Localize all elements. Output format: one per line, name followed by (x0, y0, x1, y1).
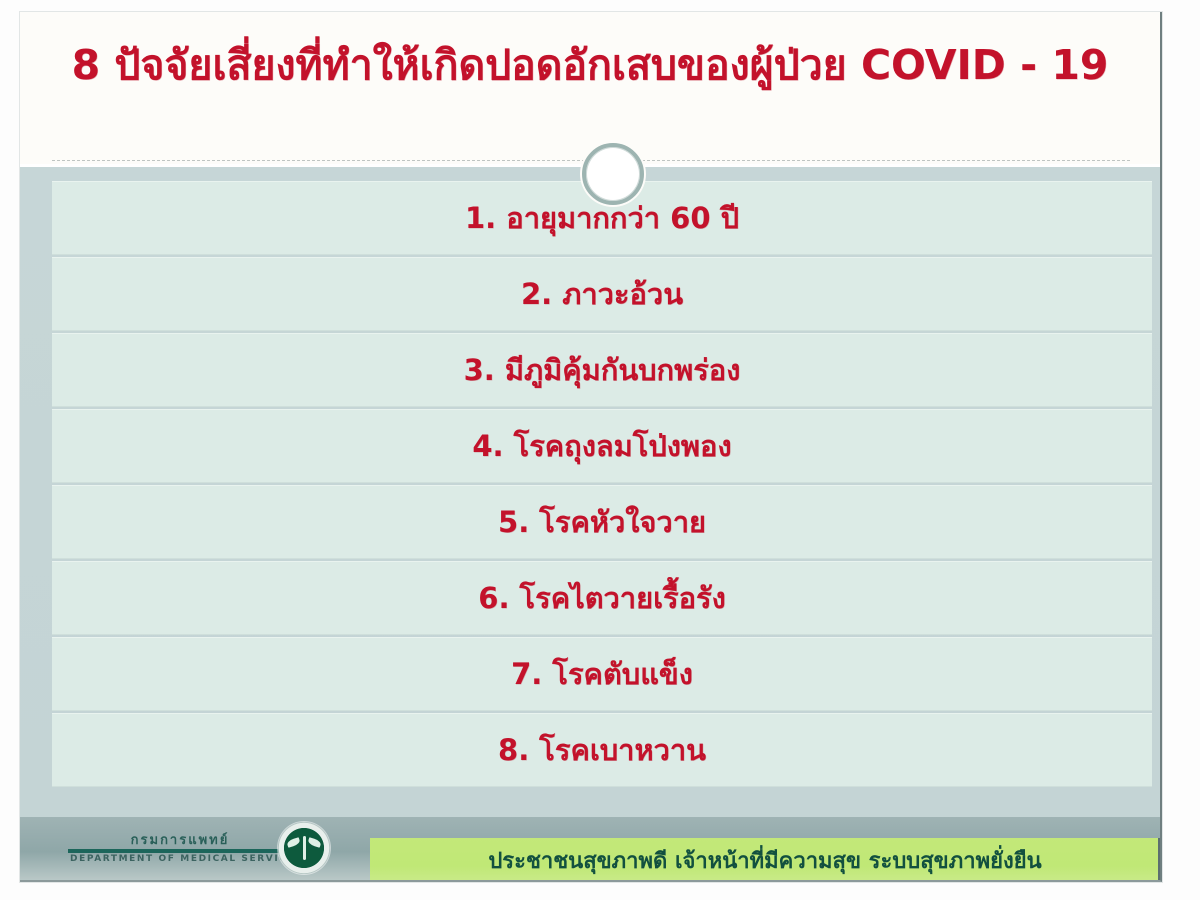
footer-bar-end-cap (1158, 838, 1160, 880)
decorative-ring-icon (582, 143, 644, 205)
slide-header: 8 ปัจจัยเสี่ยงที่ทำให้เกิดปอดอักเสบของผู… (20, 12, 1160, 164)
risk-factor-text-6: 6. โรคไตวายเรื้อรัง (52, 561, 1152, 635)
list-item: 3. มีภูมิคุ้มกันบกพร่อง (52, 333, 1152, 407)
risk-factor-list-panel: 1. อายุมากกว่า 60 ปี 2. ภาวะอ้วน 3. มีภู… (20, 167, 1160, 817)
risk-factor-text-8: 8. โรคเบาหวาน (52, 713, 1152, 787)
list-item: 5. โรคหัวใจวาย (52, 485, 1152, 559)
slide-footer: กรมการแพทย์ DEPARTMENT OF MEDICAL SERVIC… (20, 817, 1160, 880)
emblem-wing-right-icon (307, 837, 322, 848)
logo-rule-divider (68, 849, 295, 853)
org-name-english: DEPARTMENT OF MEDICAL SERVICES (70, 854, 294, 864)
emblem-wing-left-icon (286, 837, 301, 848)
risk-factor-text-3: 3. มีภูมิคุ้มกันบกพร่อง (52, 333, 1152, 407)
risk-factor-text-2: 2. ภาวะอ้วน (52, 257, 1152, 331)
list-item: 7. โรคตับแข็ง (52, 637, 1152, 711)
medical-emblem-icon (278, 822, 330, 874)
risk-factor-text-7: 7. โรคตับแข็ง (52, 637, 1152, 711)
page-title: 8 ปัจจัยเสี่ยงที่ทำให้เกิดปอดอักเสบของผู… (20, 42, 1160, 89)
org-name-thai: กรมการแพทย์ (80, 829, 280, 850)
footer-slogan-bar: ประชาชนสุขภาพดี เจ้าหน้าที่มีความสุข ระบ… (370, 838, 1160, 880)
risk-factor-text-4: 4. โรคถุงลมโป่งพอง (52, 409, 1152, 483)
list-item: 4. โรคถุงลมโป่งพอง (52, 409, 1152, 483)
risk-factor-text-5: 5. โรคหัวใจวาย (52, 485, 1152, 559)
slide-canvas: 8 ปัจจัยเสี่ยงที่ทำให้เกิดปอดอักเสบของผู… (0, 0, 1200, 900)
footer-slogan-text: ประชาชนสุขภาพดี เจ้าหน้าที่มีความสุข ระบ… (370, 838, 1160, 880)
list-item: 8. โรคเบาหวาน (52, 713, 1152, 787)
slide-frame: 8 ปัจจัยเสี่ยงที่ทำให้เกิดปอดอักเสบของผู… (20, 12, 1162, 882)
emblem-rod-icon (303, 836, 306, 861)
list-item: 2. ภาวะอ้วน (52, 257, 1152, 331)
risk-factor-list: 1. อายุมากกว่า 60 ปี 2. ภาวะอ้วน 3. มีภู… (52, 181, 1152, 789)
list-item: 6. โรคไตวายเรื้อรัง (52, 561, 1152, 635)
